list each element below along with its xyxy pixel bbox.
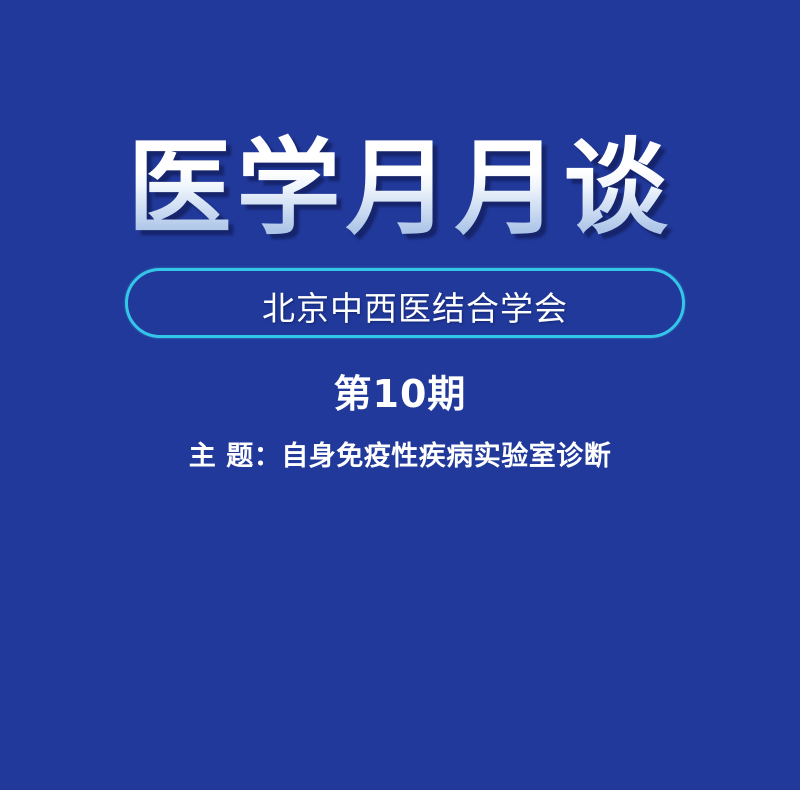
organization-pill: 北京中西医结合学会 <box>125 268 685 338</box>
organization-label: 北京中西医结合学会 <box>128 271 688 341</box>
topic-line: 主 题：自身免疫性疾病实验室诊断 <box>0 440 800 474</box>
issue-number: 第10期 <box>0 372 800 416</box>
main-title: 医学月月谈 医学月月谈 <box>0 132 800 244</box>
main-title-text: 医学月月谈 <box>127 132 672 244</box>
poster-canvas: 医学月月谈 医学月月谈 北京中西医结合学会 第10期 主 题：自身免疫性疾病实验… <box>0 0 800 790</box>
